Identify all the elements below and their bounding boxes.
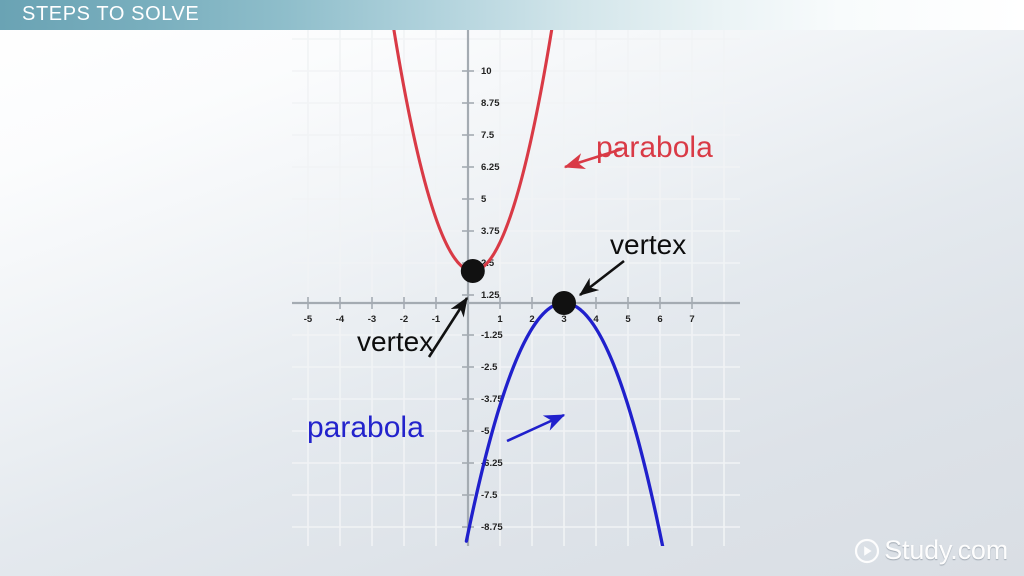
x-tick-label: -3 xyxy=(368,314,376,325)
axes xyxy=(292,30,740,546)
play-circle-icon xyxy=(854,538,880,564)
y-tick-label: 1.25 xyxy=(481,290,500,301)
red-vertex-dot xyxy=(461,259,485,283)
grid-horizontal xyxy=(292,39,740,527)
vertex-top-arrow xyxy=(580,261,624,295)
x-tick-label: -1 xyxy=(432,314,441,325)
vertex-bottom-label: vertex xyxy=(357,326,433,358)
vertex-bottom-arrow xyxy=(429,298,467,357)
watermark-text: Study.com xyxy=(884,535,1008,566)
blue-vertex-dot xyxy=(552,291,576,315)
x-tick-label: -5 xyxy=(304,314,313,325)
x-tick-label: 6 xyxy=(657,314,662,325)
blue-parabola-arrow xyxy=(507,415,564,441)
graph-svg: -5 -4 -3 -2 -1 1 2 3 4 5 6 7 10 8.75 7.5… xyxy=(292,30,740,546)
x-tick-label: -4 xyxy=(336,314,345,325)
y-tick-label: 8.75 xyxy=(481,98,500,109)
grid-vertical xyxy=(308,30,724,546)
slide-canvas: STEPS TO SOLVE xyxy=(0,0,1024,576)
y-tick-label: 3.75 xyxy=(481,226,500,237)
y-tick-label: -1.25 xyxy=(481,330,503,341)
page-title: STEPS TO SOLVE xyxy=(22,3,199,26)
x-tick-label: 1 xyxy=(497,314,503,325)
x-tick-label: 7 xyxy=(689,314,694,325)
x-tick-label: 3 xyxy=(561,314,566,325)
y-tick-label: 6.25 xyxy=(481,162,500,173)
header-bar: STEPS TO SOLVE xyxy=(0,0,1024,30)
y-tick-label: -2.5 xyxy=(481,362,498,373)
blue-parabola-label: parabola xyxy=(307,411,424,445)
y-tick-label: 5 xyxy=(481,194,487,205)
red-parabola-label: parabola xyxy=(596,131,713,165)
y-tick-label: 7.5 xyxy=(481,130,495,141)
x-tick-label: 5 xyxy=(625,314,631,325)
x-tick-labels: -5 -4 -3 -2 -1 1 2 3 4 5 6 7 xyxy=(304,314,695,325)
y-tick-label: -8.75 xyxy=(481,522,503,533)
study-com-watermark: Study.com xyxy=(854,535,1008,566)
y-tick-label: 10 xyxy=(481,66,492,77)
coordinate-graph: -5 -4 -3 -2 -1 1 2 3 4 5 6 7 10 8.75 7.5… xyxy=(292,30,740,546)
red-parabola-curve xyxy=(382,30,568,271)
y-tick-label: -5 xyxy=(481,426,490,437)
y-tick-label: -7.5 xyxy=(481,490,498,501)
x-tick-label: -2 xyxy=(400,314,408,325)
vertex-top-label: vertex xyxy=(610,229,686,261)
